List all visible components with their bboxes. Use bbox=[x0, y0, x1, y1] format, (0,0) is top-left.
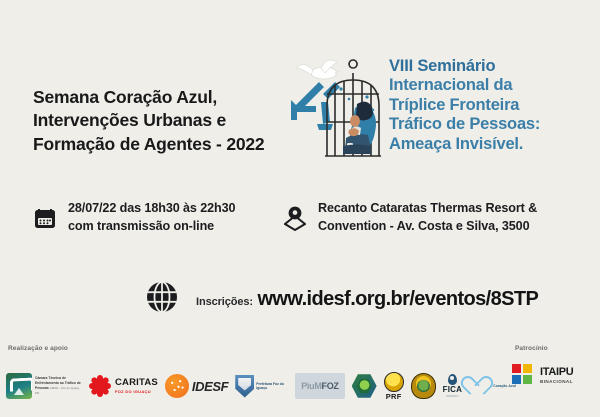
logo-pium-foz: PiuMFOZ bbox=[295, 373, 344, 399]
pium-title: PiuM bbox=[301, 381, 321, 391]
logo-policia-federal bbox=[411, 369, 436, 403]
seminar-title-line-4: Tráfico de Pessoas: bbox=[389, 115, 595, 134]
caritas-text: CARITAS FOZ DO IGUAÇU bbox=[115, 378, 158, 394]
itaipu-title: ITAIPU bbox=[540, 367, 573, 378]
caritas-starburst-icon bbox=[88, 375, 111, 398]
idesf-title: IDESF bbox=[192, 379, 228, 394]
logo-caritas: CARITAS FOZ DO IGUAÇU bbox=[88, 369, 158, 403]
logo-prf: PRF bbox=[384, 369, 404, 403]
fica-pin-icon bbox=[448, 374, 457, 385]
globe-icon bbox=[144, 279, 184, 319]
seminar-title-line-2: Internacional da bbox=[389, 76, 595, 95]
seminar-title-line-3: Tríplice Fronteira bbox=[389, 96, 595, 115]
registration-block[interactable]: Inscrições: www.idesf.org.br/eventos/8ST… bbox=[144, 279, 538, 319]
registration-label: Inscrições: bbox=[196, 296, 253, 308]
policia-federal-badge-icon bbox=[411, 373, 436, 399]
camara-tecnica-mark bbox=[6, 373, 32, 399]
itaipu-blocks-icon bbox=[512, 364, 536, 386]
event-info-row: 28/07/22 das 18h30 às 22h30 com transmis… bbox=[0, 197, 600, 253]
event-location-line-2: Convention - Av. Costa e Silva, 3500 bbox=[318, 218, 537, 236]
pium-subtitle: FOZ bbox=[322, 381, 339, 391]
calendar-icon bbox=[32, 204, 58, 232]
idesf-circle-icon bbox=[165, 374, 189, 398]
event-location-line-1: Recanto Cataratas Thermas Resort & bbox=[318, 200, 537, 218]
caritas-subtitle: FOZ DO IGUAÇU bbox=[115, 389, 158, 394]
logo-camara-tecnica: Câmara Técnica de Enfrentamento ao Tráfi… bbox=[6, 369, 81, 403]
logo-itaipu: ITAIPU BINACIONAL bbox=[512, 364, 573, 386]
caritas-title: CARITAS bbox=[115, 378, 158, 388]
headline-line-2: Intervenções Urbanas e bbox=[33, 109, 313, 132]
event-poster: Semana Coração Azul, Intervenções Urbana… bbox=[0, 0, 600, 417]
prefeitura-crest-icon bbox=[235, 375, 254, 398]
event-date-block: 28/07/22 das 18h30 às 22h30 com transmis… bbox=[32, 200, 235, 236]
logo-idesf: IDESF bbox=[165, 369, 228, 403]
itaipu-text: ITAIPU BINACIONAL bbox=[540, 367, 573, 384]
fica-subtitle: COMIGO bbox=[446, 394, 459, 398]
logo-fica: FICA COMIGO bbox=[443, 369, 462, 403]
camara-tecnica-text: Câmara Técnica de Enfrentamento ao Tráfi… bbox=[35, 376, 81, 395]
itaipu-subtitle: BINACIONAL bbox=[540, 379, 573, 384]
event-date-text: 28/07/22 das 18h30 às 22h30 com transmis… bbox=[68, 200, 235, 236]
prf-badge-icon bbox=[384, 372, 404, 392]
registration-text: Inscrições: www.idesf.org.br/eventos/8ST… bbox=[196, 288, 538, 311]
headline-line-3: Formação de Agentes - 2022 bbox=[33, 133, 313, 156]
footer: Realização e apoio Patrocínio Câmara Téc… bbox=[0, 338, 600, 417]
event-date-line-1: 28/07/22 das 18h30 às 22h30 bbox=[68, 200, 235, 218]
sponsor-label: Patrocínio bbox=[515, 345, 548, 352]
registration-url[interactable]: www.idesf.org.br/eventos/8STP bbox=[257, 288, 538, 310]
logo-prefeitura-foz: Prefeitura Foz do Iguaçu bbox=[235, 369, 288, 403]
map-pin-icon bbox=[282, 204, 308, 232]
partner-logo-strip: Câmara Técnica de Enfrentamento ao Tráfi… bbox=[6, 362, 496, 410]
page-title: Semana Coração Azul, Intervenções Urbana… bbox=[33, 86, 313, 156]
seminar-title-line-1: VIII Seminário bbox=[389, 57, 595, 76]
headline-line-1: Semana Coração Azul, bbox=[33, 86, 313, 109]
heart-icon bbox=[469, 376, 491, 396]
seminar-title-line-5: Ameaça Invisível. bbox=[389, 135, 595, 154]
event-date-line-2: com transmissão on-line bbox=[68, 218, 235, 236]
prefeitura-title: Prefeitura Foz do Iguaçu bbox=[256, 382, 288, 391]
event-location-block: Recanto Cataratas Thermas Resort & Conve… bbox=[282, 200, 537, 236]
pium-foz-text: PiuMFOZ bbox=[301, 382, 338, 391]
fica-title: FICA bbox=[443, 386, 462, 394]
prf-title: PRF bbox=[386, 393, 402, 401]
birdcage-illustration bbox=[283, 42, 387, 172]
seminar-title: VIII Seminário Internacional da Tríplice… bbox=[389, 57, 595, 154]
event-location-text: Recanto Cataratas Thermas Resort & Conve… bbox=[318, 200, 537, 236]
logo-hex-green bbox=[352, 369, 377, 403]
hex-green-icon bbox=[352, 374, 377, 399]
support-label: Realização e apoio bbox=[8, 345, 68, 352]
